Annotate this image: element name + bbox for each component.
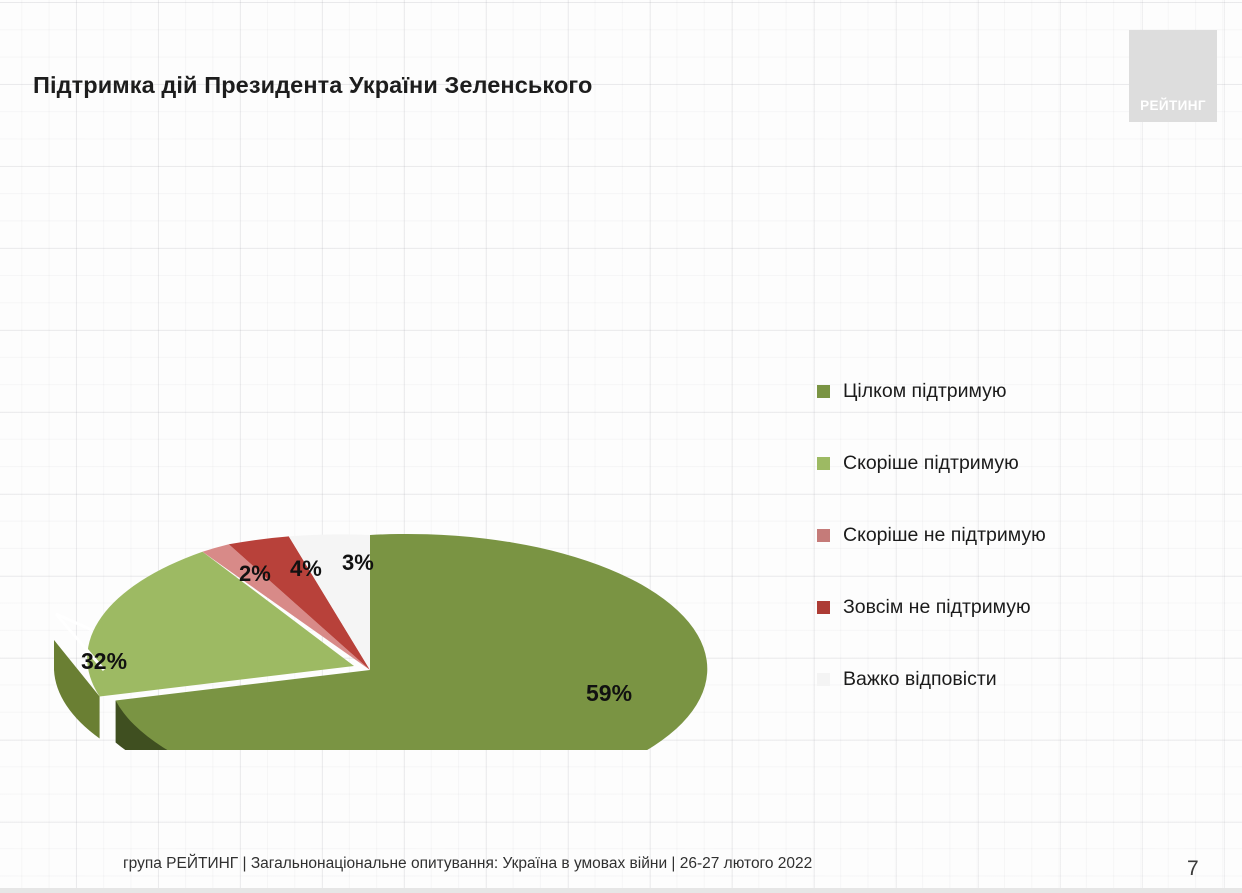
page-number: 7: [1187, 857, 1199, 881]
pie-label-59: 59%: [586, 680, 632, 707]
legend-swatch-icon: [817, 385, 830, 398]
pie-label-32: 32%: [81, 648, 127, 675]
legend-label: Скоріше підтримую: [843, 452, 1019, 475]
legend-item-skorishe-ne-pidtrymuyu[interactable]: Скоріше не підтримую: [817, 499, 1147, 571]
pie-label-4: 4%: [290, 556, 322, 582]
slide-canvas: Підтримка дій Президента України Зеленсь…: [0, 0, 1242, 893]
legend-swatch-icon: [817, 673, 830, 686]
pie-top-faces: [56, 534, 707, 750]
footer-source: група РЕЙТИНГ | Загальнонаціональне опит…: [123, 855, 812, 873]
legend-swatch-icon: [817, 601, 830, 614]
legend-swatch-icon: [817, 457, 830, 470]
pie-label-2: 2%: [239, 561, 271, 587]
page-title: Підтримка дій Президента України Зеленсь…: [33, 72, 592, 99]
bottom-band: [0, 888, 1242, 893]
legend-label: Важко відповісти: [843, 668, 997, 691]
pie-chart: 59% 32% 2% 4% 3%: [0, 230, 820, 750]
legend-label: Скоріше не підтримую: [843, 524, 1046, 547]
chart-legend: Цілком підтримую Скоріше підтримую Скорі…: [817, 355, 1147, 715]
logo-label: РЕЙТИНГ: [1140, 98, 1206, 122]
legend-item-skorishe-pidtrymuyu[interactable]: Скоріше підтримую: [817, 427, 1147, 499]
legend-item-vazhko-vidpovisty[interactable]: Важко відповісти: [817, 643, 1147, 715]
legend-item-tsilkom-pidtrymuyu[interactable]: Цілком підтримую: [817, 355, 1147, 427]
legend-item-zovsim-ne-pidtrymuyu[interactable]: Зовсім не підтримую: [817, 571, 1147, 643]
legend-swatch-icon: [817, 529, 830, 542]
legend-label: Цілком підтримую: [843, 380, 1007, 403]
rating-logo: РЕЙТИНГ: [1129, 30, 1217, 122]
legend-label: Зовсім не підтримую: [843, 596, 1031, 619]
pie-label-3: 3%: [342, 550, 374, 576]
